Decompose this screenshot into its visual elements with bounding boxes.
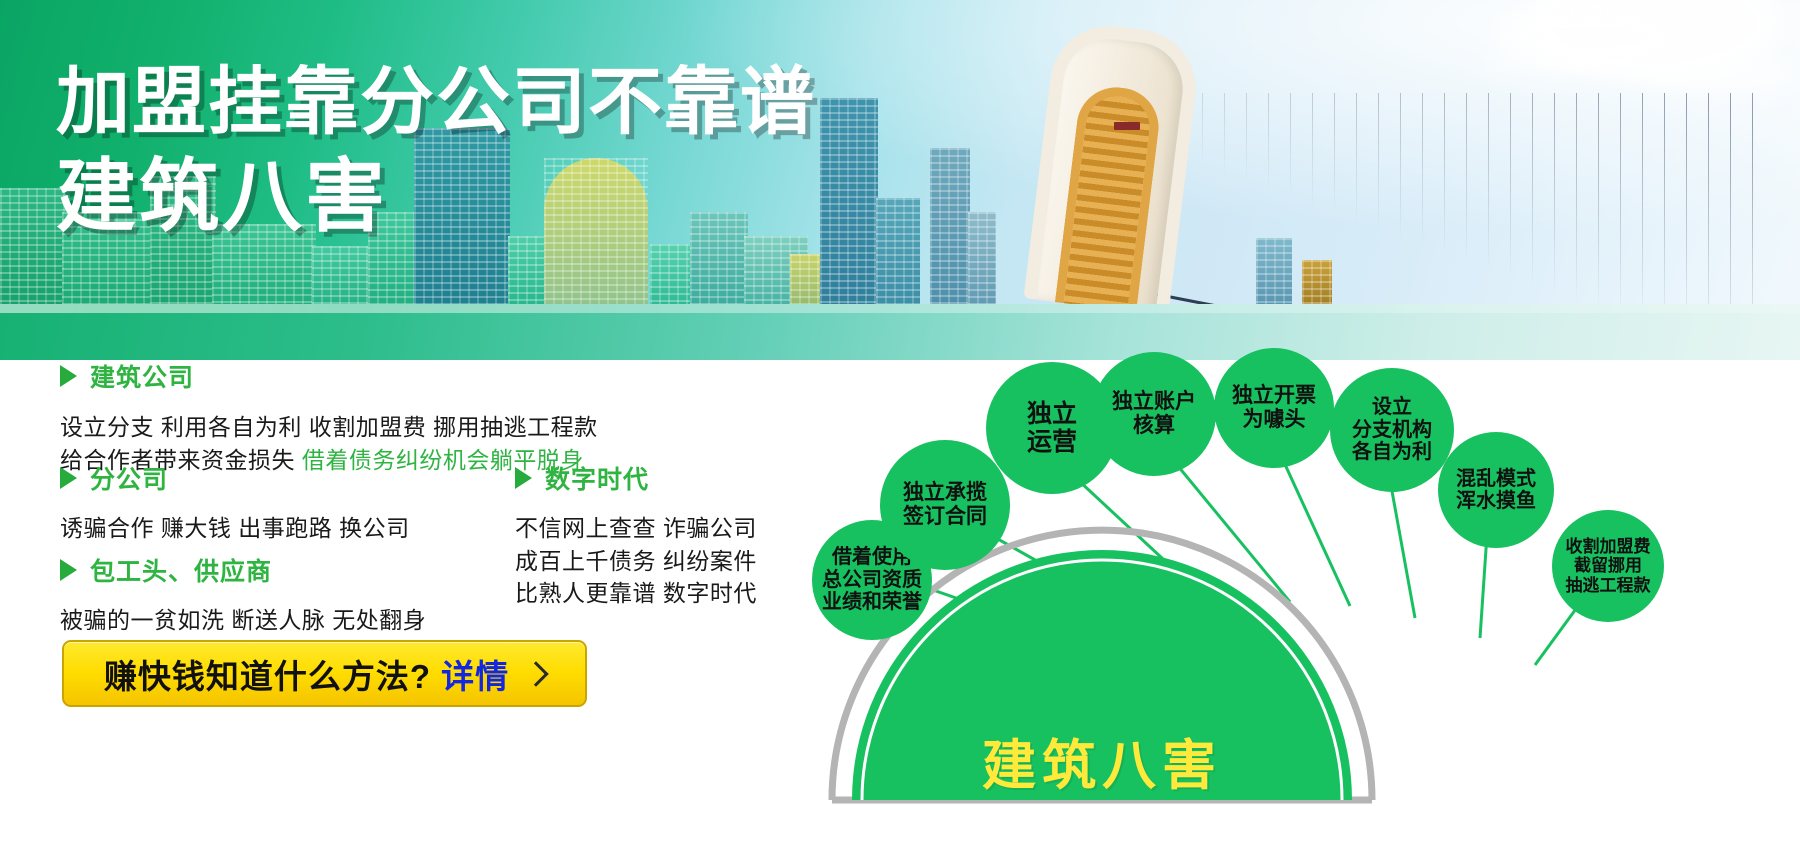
bubble-text: 独立承揽 签订合同 <box>903 481 987 528</box>
section-contractor-supplier: 包工头、供应商 被骗的一贫如洗 断送人脉 无处翻身 <box>60 552 426 637</box>
poster-page: 加盟挂靠分公司不靠谱 建筑八害 建筑公司 设立分支 利用各自为利 收割加盟费 挪… <box>0 0 1800 844</box>
section-heading: 建筑公司 <box>60 358 598 394</box>
section-body: 不信网上查查 诈骗公司 成百上千债务 纠纷案件 比熟人更靠谱 数字时代 <box>515 512 757 610</box>
body-text: 设立分支 利用各自为利 收割加盟费 挪用抽逃工程款 <box>60 414 598 440</box>
banner-headline: 加盟挂靠分公司不靠谱 建筑八害 <box>56 62 816 240</box>
section-body: 被骗的一贫如洗 断送人脉 无处翻身 <box>60 604 426 637</box>
section-title: 包工头、供应商 <box>90 552 272 588</box>
bridge-cables <box>1114 93 1774 308</box>
bridge-illustration <box>1010 8 1770 308</box>
bubble-text: 混乱模式 浑水摸鱼 <box>1456 468 1536 513</box>
bubble-text: 收割加盟费 截留挪用 抽逃工程款 <box>1566 537 1651 594</box>
chevron-right-icon <box>523 661 548 686</box>
building-silhouette <box>968 212 996 308</box>
headline-line-2: 建筑八害 <box>56 154 816 240</box>
bubble-4[interactable]: 独立开票 为噱头 <box>1214 348 1334 468</box>
triangle-bullet-icon <box>515 467 532 489</box>
bubble-text: 独立开票 为噱头 <box>1232 384 1316 431</box>
bubble-5[interactable]: 设立 分支机构 各自为利 <box>1330 368 1454 492</box>
section-heading: 包工头、供应商 <box>60 552 426 588</box>
bazhai-diagram: 建筑八害 借着使用 总公司资质 业绩和荣誉 独立承揽 签订合同 独立 运营 独立… <box>790 330 1800 844</box>
triangle-bullet-icon <box>60 365 77 387</box>
section-construction-company: 建筑公司 设立分支 利用各自为利 收割加盟费 挪用抽逃工程款 给合作者带来资金损… <box>60 358 598 476</box>
body-line: 诱骗合作 赚大钱 出事跑路 换公司 <box>60 512 410 545</box>
section-digital-era: 数字时代 不信网上查查 诈骗公司 成百上千债务 纠纷案件 比熟人更靠谱 数字时代 <box>515 460 757 610</box>
building-silhouette <box>820 98 878 308</box>
section-heading: 分公司 <box>60 460 410 496</box>
bubble-7[interactable]: 收割加盟费 截留挪用 抽逃工程款 <box>1552 510 1664 622</box>
hero-banner: 加盟挂靠分公司不靠谱 建筑八害 <box>0 0 1800 360</box>
building-silhouette <box>930 148 970 308</box>
body-line: 比熟人更靠谱 数字时代 <box>515 577 757 610</box>
building-silhouette <box>650 244 694 308</box>
section-title: 建筑公司 <box>90 358 194 394</box>
body-line: 成百上千债务 纠纷案件 <box>515 545 757 578</box>
dome-label: 建筑八害 <box>832 721 1372 800</box>
section-title: 分公司 <box>90 460 168 496</box>
cta-button[interactable]: 赚快钱知道什么方法? 详情 <box>62 640 587 707</box>
section-title: 数字时代 <box>545 460 649 496</box>
bubble-1[interactable]: 独立承揽 签订合同 <box>880 440 1010 570</box>
bridge-sign <box>1114 122 1140 130</box>
cta-link-text[interactable]: 详情 <box>441 650 509 698</box>
bubble-3[interactable]: 独立账户 核算 <box>1092 352 1216 476</box>
triangle-bullet-icon <box>60 559 77 581</box>
building-silhouette <box>790 254 824 308</box>
headline-line-1: 加盟挂靠分公司不靠谱 <box>56 62 816 142</box>
triangle-bullet-icon <box>60 467 77 489</box>
bubble-text: 独立账户 核算 <box>1112 390 1196 437</box>
body-line: 不信网上查查 诈骗公司 <box>515 512 757 545</box>
bubble-text: 设立 分支机构 各自为利 <box>1352 396 1432 463</box>
body-line: 设立分支 利用各自为利 收割加盟费 挪用抽逃工程款 <box>60 411 598 444</box>
body-line: 被骗的一贫如洗 断送人脉 无处翻身 <box>60 604 426 637</box>
building-silhouette <box>876 198 920 308</box>
section-body: 诱骗合作 赚大钱 出事跑路 换公司 <box>60 512 410 545</box>
bubble-6[interactable]: 混乱模式 浑水摸鱼 <box>1438 432 1554 548</box>
building-silhouette <box>312 246 370 308</box>
bubble-text: 独立 运营 <box>1027 400 1077 456</box>
section-branch-company: 分公司 诱骗合作 赚大钱 出事跑路 换公司 <box>60 460 410 545</box>
section-heading: 数字时代 <box>515 460 757 496</box>
cta-main-text: 赚快钱知道什么方法? <box>104 650 431 698</box>
building-silhouette <box>508 236 548 308</box>
left-content: 建筑公司 设立分支 利用各自为利 收割加盟费 挪用抽逃工程款 给合作者带来资金损… <box>0 360 800 844</box>
